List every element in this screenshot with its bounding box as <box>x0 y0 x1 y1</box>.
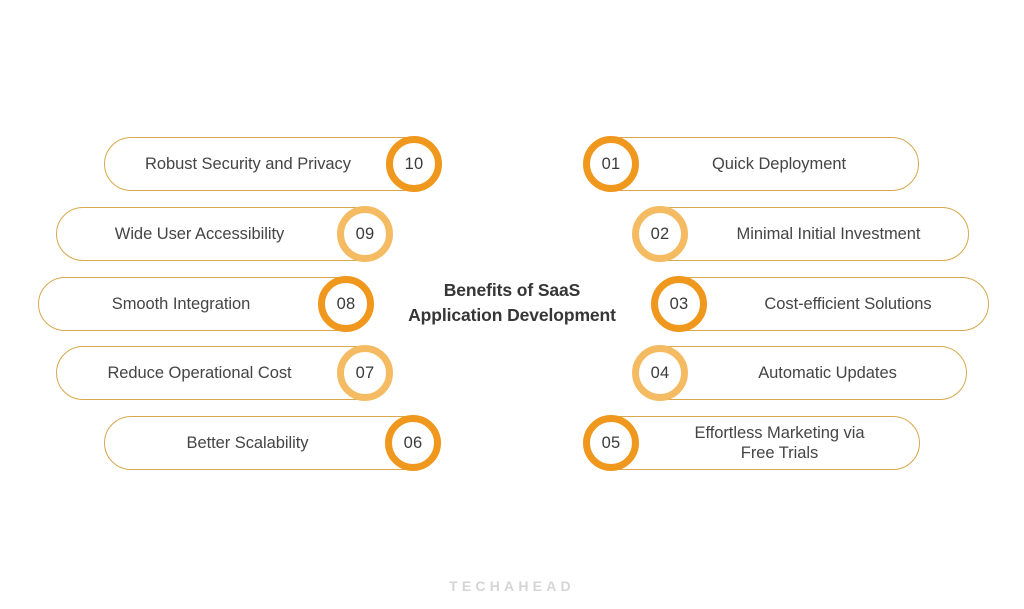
benefit-row[interactable]: Better Scalability06 <box>104 416 439 470</box>
benefit-label: Minimal Initial Investment <box>704 207 953 261</box>
benefit-row[interactable]: Cost-efficient Solutions03 <box>653 277 989 331</box>
benefit-number-badge: 05 <box>583 415 639 471</box>
benefit-row[interactable]: Robust Security and Privacy10 <box>104 137 440 191</box>
benefit-label: Automatic Updates <box>704 346 951 400</box>
benefit-number-badge: 10 <box>386 136 442 192</box>
benefit-row[interactable]: Wide User Accessibility09 <box>56 207 391 261</box>
benefit-row[interactable]: Effortless Marketing via Free Trials05 <box>585 416 920 470</box>
benefit-label: Smooth Integration <box>52 277 310 331</box>
benefit-number-badge: 04 <box>632 345 688 401</box>
benefit-row[interactable]: Automatic Updates04 <box>634 346 967 400</box>
benefit-label: Quick Deployment <box>655 137 903 191</box>
infographic-canvas: Robust Security and Privacy10Wide User A… <box>0 0 1024 609</box>
benefit-label: Better Scalability <box>118 416 377 470</box>
page-title: Benefits of SaaS Application Development <box>382 278 642 328</box>
benefit-row[interactable]: Quick Deployment01 <box>585 137 919 191</box>
benefit-number-badge: 08 <box>318 276 374 332</box>
benefit-label: Robust Security and Privacy <box>118 137 378 191</box>
benefit-number-badge: 01 <box>583 136 639 192</box>
benefit-number-badge: 07 <box>337 345 393 401</box>
benefit-number-badge: 06 <box>385 415 441 471</box>
brand-wordmark: TECHAHEAD <box>0 578 1024 594</box>
benefit-number-badge: 03 <box>651 276 707 332</box>
benefit-row[interactable]: Smooth Integration08 <box>38 277 372 331</box>
benefit-number-badge: 09 <box>337 206 393 262</box>
benefit-row[interactable]: Reduce Operational Cost07 <box>56 346 391 400</box>
benefit-label: Wide User Accessibility <box>70 207 329 261</box>
benefit-number-badge: 02 <box>632 206 688 262</box>
benefit-label: Cost-efficient Solutions <box>723 277 973 331</box>
benefit-label: Effortless Marketing via Free Trials <box>655 416 904 470</box>
benefit-label: Reduce Operational Cost <box>70 346 329 400</box>
benefit-row[interactable]: Minimal Initial Investment02 <box>634 207 969 261</box>
